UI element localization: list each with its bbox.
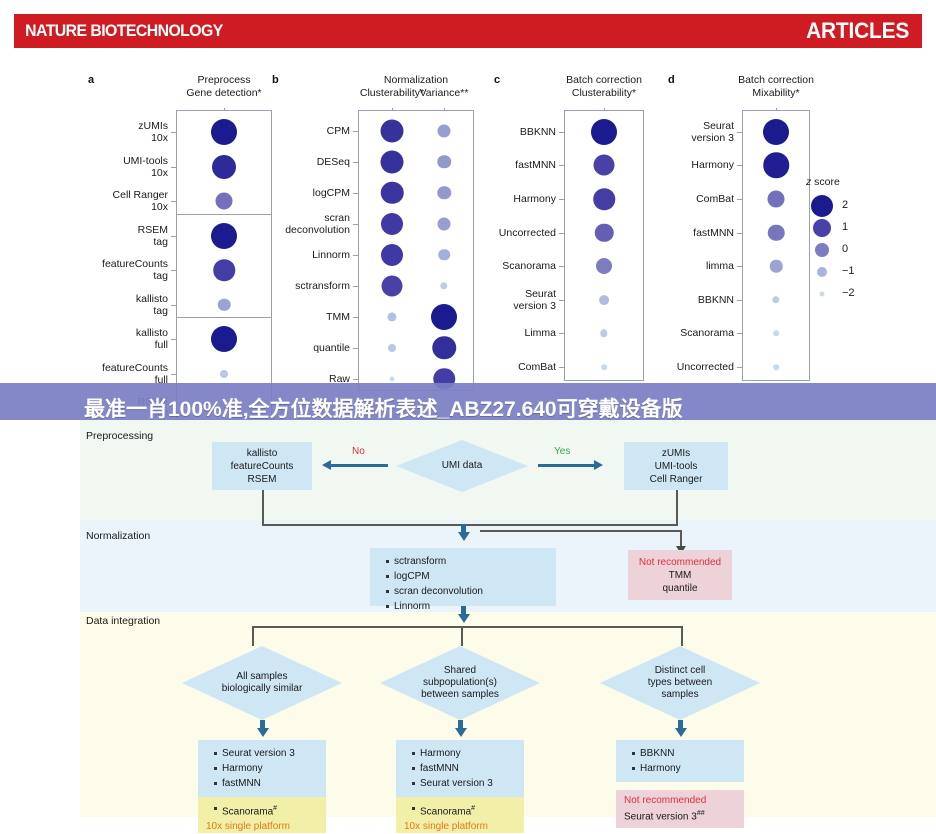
legend-label: 1 — [842, 221, 848, 233]
row-tick — [559, 300, 564, 301]
panel-title-b: Normalization — [352, 74, 480, 87]
legend-dot — [811, 195, 833, 217]
arrow-int-head — [458, 614, 470, 623]
dot-marker — [596, 258, 612, 274]
row-label: Harmony — [436, 193, 556, 205]
legend-label: −1 — [842, 265, 855, 277]
conn-right-down — [676, 490, 678, 524]
dot-marker — [381, 213, 403, 235]
legend-title: z score — [806, 176, 840, 188]
tree-horizontal — [252, 626, 682, 628]
integration-conditional-1: Scanorama#10x single platform — [396, 797, 524, 833]
row-label: Uncorrected — [614, 361, 734, 373]
panel-column-header-c-0: Clusterability* — [546, 87, 662, 100]
dot-marker — [768, 224, 785, 241]
integration-recommended-0: Seurat version 3HarmonyfastMNN — [198, 740, 326, 797]
plot-box-b-0 — [358, 110, 474, 391]
panel-column-header-b-1: Variance** — [398, 87, 490, 99]
integration-not-recommended-2: Not recommendedSeurat version 3## — [616, 790, 744, 828]
dot-marker — [381, 244, 403, 266]
row-tick — [171, 201, 176, 202]
row-label: kallistofull — [48, 327, 168, 351]
dot-marker — [773, 331, 779, 337]
row-label: featureCountstag — [48, 258, 168, 282]
figure-page: NATURE BIOTECHNOLOGY ARTICLES aPreproces… — [0, 0, 936, 817]
dot-marker — [770, 260, 783, 273]
row-label: fastMNN — [614, 227, 734, 239]
arrow-no-head — [322, 460, 331, 470]
row-label: Cell Ranger10x — [48, 189, 168, 213]
row-label: zUMIs10x — [48, 120, 168, 144]
tree-branch-0 — [252, 626, 254, 646]
legend-dot — [820, 292, 825, 297]
panel-title-c: Batch correction — [546, 74, 662, 87]
dot-marker — [768, 191, 785, 208]
node-preprocess-no: kallistofeatureCountsRSEM — [212, 442, 312, 490]
row-tick — [737, 300, 742, 301]
row-label: UMI-tools10x — [48, 155, 168, 179]
dotplot-figure: aPreprocessGene detection*zUMIs10xUMI-to… — [0, 56, 936, 396]
node-preprocess-yes: zUMIsUMI-toolsCell Ranger — [624, 442, 728, 490]
tree-branch-2 — [681, 626, 683, 646]
row-label: DESeq — [230, 156, 350, 168]
row-tick — [737, 233, 742, 234]
row-tick — [171, 167, 176, 168]
conn-bottom-left — [262, 524, 464, 526]
row-label: RSEMtag — [48, 224, 168, 248]
dot-marker — [438, 249, 450, 261]
integration-arrow-head-0 — [257, 728, 269, 737]
row-tick — [559, 165, 564, 166]
row-label: Seuratversion 3 — [436, 288, 556, 312]
row-tick — [559, 333, 564, 334]
dot-marker — [601, 364, 607, 370]
row-label: Limma — [436, 327, 556, 339]
row-tick — [559, 367, 564, 368]
dot-marker — [763, 119, 789, 145]
dot-marker — [213, 260, 235, 282]
plot-box-c-0 — [564, 110, 644, 381]
row-tick — [353, 317, 358, 318]
row-label: Harmony — [614, 159, 734, 171]
dot-marker — [381, 119, 404, 142]
label-no: No — [352, 446, 365, 457]
normalization-recommended-box: sctransformlogCPMscran deconvolutionLinn… — [370, 548, 556, 606]
journal-name: NATURE BIOTECHNOLOGY — [14, 21, 223, 41]
panel-letter-b: b — [272, 74, 279, 86]
legend-label: 0 — [842, 243, 848, 255]
row-tick — [559, 266, 564, 267]
panel-letter-a: a — [88, 74, 94, 86]
dot-marker — [381, 150, 404, 173]
row-tick — [737, 132, 742, 133]
band-label-0: Preprocessing — [86, 430, 153, 442]
panel-letter-d: d — [668, 74, 675, 86]
panel-column-header-d-0: Mixability* — [716, 87, 836, 100]
journal-section-label: ARTICLES — [806, 18, 922, 44]
conn-left-down — [262, 490, 264, 524]
dot-marker — [763, 153, 789, 179]
row-tick — [737, 266, 742, 267]
legend-dot — [817, 267, 827, 277]
arrow-yes-stem — [538, 464, 596, 467]
conn-nr-h — [480, 530, 682, 532]
row-label: quantile — [230, 342, 350, 354]
arrow-norm-head — [458, 532, 470, 541]
row-label: Scanorama — [436, 260, 556, 272]
row-tick — [559, 233, 564, 234]
row-tick — [171, 270, 176, 271]
dot-marker — [382, 275, 403, 296]
row-label: CPM — [230, 125, 350, 137]
integration-conditional-0: Scanorama#10x single platform — [198, 797, 326, 833]
dot-marker — [595, 223, 614, 242]
row-tick — [171, 305, 176, 306]
row-label: sctransform — [230, 280, 350, 292]
arrow-no-stem — [330, 464, 388, 467]
legend-dot — [815, 243, 829, 257]
row-tick — [171, 132, 176, 133]
row-label: Seuratversion 3 — [614, 120, 734, 144]
dot-marker — [390, 376, 395, 381]
row-tick — [171, 339, 176, 340]
integration-arrow-head-1 — [455, 728, 467, 737]
panel-letter-c: c — [494, 74, 500, 86]
integration-arrow-head-2 — [675, 728, 687, 737]
row-label: ComBat — [614, 193, 734, 205]
workflow-flowchart: PreprocessingNormalizationData integrati… — [0, 420, 936, 817]
row-tick — [737, 199, 742, 200]
row-label: Scanorama — [614, 327, 734, 339]
panel-title-d: Batch correction — [716, 74, 836, 87]
row-tick — [353, 162, 358, 163]
panel-title-a: Preprocess — [176, 74, 272, 87]
row-tick — [737, 367, 742, 368]
row-tick — [353, 286, 358, 287]
dot-marker — [593, 188, 615, 210]
legend-dot — [813, 219, 831, 237]
normalization-not-recommended-box: Not recommendedTMMquantile — [628, 550, 732, 600]
row-label: fastMNN — [436, 159, 556, 171]
row-tick — [737, 165, 742, 166]
arrow-yes-head — [594, 460, 603, 470]
row-label: Uncorrected — [436, 227, 556, 239]
row-tick — [737, 333, 742, 334]
row-label: BBKNN — [436, 126, 556, 138]
legend-label: 2 — [842, 199, 848, 211]
integration-recommended-2: BBKNNHarmony — [616, 740, 744, 782]
journal-header-bar: NATURE BIOTECHNOLOGY ARTICLES — [14, 14, 922, 48]
tree-branch-1 — [461, 626, 463, 646]
plot-box-d-0 — [742, 110, 810, 381]
row-tick — [353, 348, 358, 349]
row-label: logCPM — [230, 187, 350, 199]
dot-marker — [594, 155, 615, 176]
row-tick — [353, 255, 358, 256]
row-label: ComBat — [436, 361, 556, 373]
dot-marker — [218, 299, 231, 312]
band-label-2: Data integration — [86, 615, 160, 627]
band-label-1: Normalization — [86, 530, 150, 542]
row-tick — [559, 132, 564, 133]
row-tick — [559, 199, 564, 200]
row-tick — [171, 374, 176, 375]
dot-marker — [599, 295, 609, 305]
panel-column-header-a-0: Gene detection* — [176, 87, 272, 100]
dot-marker — [773, 364, 779, 370]
legend-label: −2 — [842, 287, 855, 299]
dot-marker — [388, 344, 396, 352]
row-label: kallistotag — [48, 293, 168, 317]
dot-marker — [220, 370, 228, 378]
watermark-text: 最准一肖100%准,全方位数据解析表述_ABZ27.640可穿戴设备版 — [0, 393, 683, 423]
row-tick — [353, 379, 358, 380]
row-tick — [353, 193, 358, 194]
row-tick — [353, 224, 358, 225]
row-label: limma — [614, 260, 734, 272]
row-tick — [353, 131, 358, 132]
row-label: Linnorm — [230, 249, 350, 261]
row-tick — [171, 236, 176, 237]
conn-bottom-right — [464, 524, 678, 526]
row-label: scrandeconvolution — [230, 212, 350, 236]
label-yes: Yes — [554, 446, 570, 457]
dot-marker — [381, 181, 404, 204]
integration-recommended-1: HarmonyfastMNNSeurat version 3 — [396, 740, 524, 797]
row-label: BBKNN — [614, 294, 734, 306]
row-label: TMM — [230, 311, 350, 323]
